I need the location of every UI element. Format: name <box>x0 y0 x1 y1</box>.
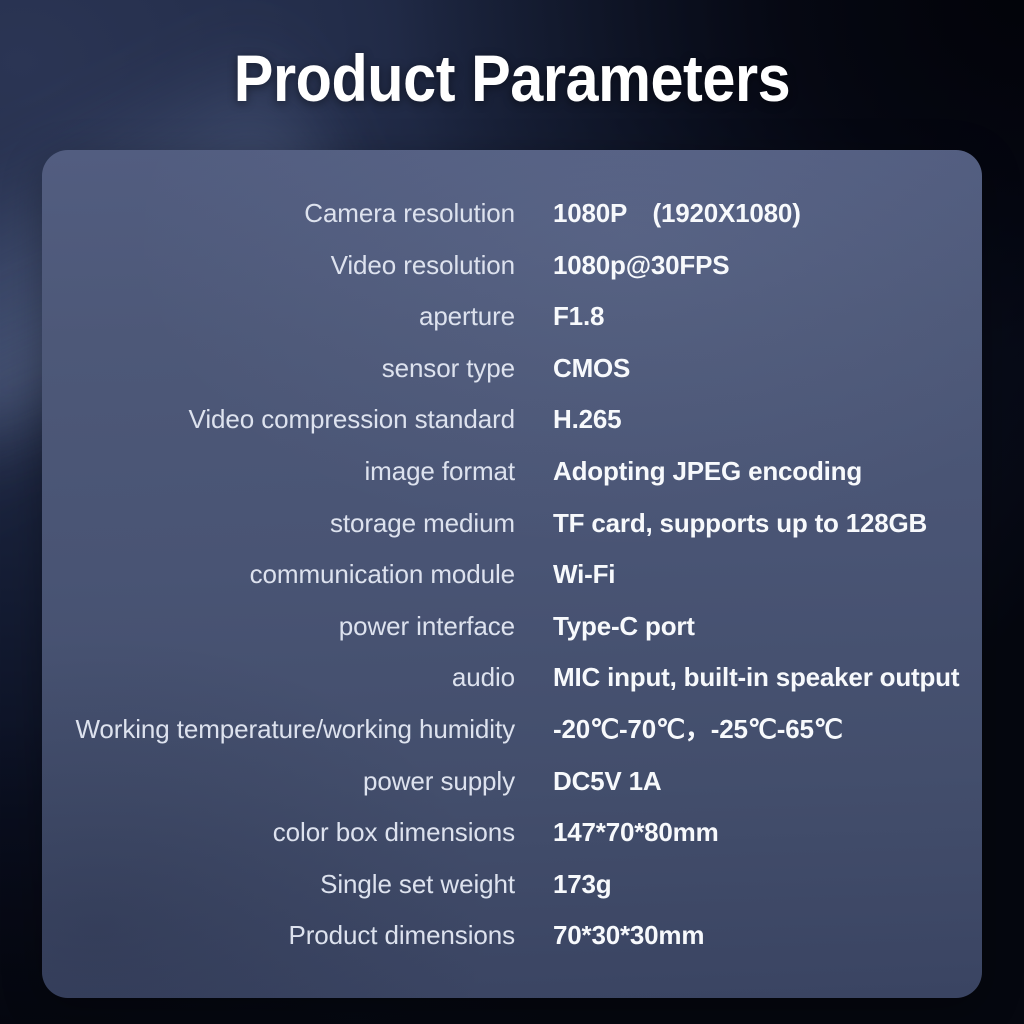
spec-row-value: -20℃-70℃，-25℃-65℃ <box>515 714 843 744</box>
spec-row-label: Video resolution <box>42 250 515 280</box>
spec-row: Product dimensions70*30*30mm <box>42 920 982 972</box>
spec-row: communication moduleWi-Fi <box>42 559 982 611</box>
spec-row-value: Adopting JPEG encoding <box>515 456 862 486</box>
spec-row-label: power interface <box>42 611 515 641</box>
spec-row: color box dimensions147*70*80mm <box>42 817 982 869</box>
spec-row: Single set weight173g <box>42 869 982 921</box>
spec-row: apertureF1.8 <box>42 301 982 353</box>
spec-row: audioMIC input, built-in speaker output <box>42 662 982 714</box>
spec-row-value: DC5V 1A <box>515 766 661 796</box>
spec-row-label: Camera resolution <box>42 198 515 228</box>
spec-row-value: MIC input, built-in speaker output <box>515 662 959 692</box>
spec-row-value: CMOS <box>515 353 630 383</box>
spec-row: Video resolution1080p@30FPS <box>42 250 982 302</box>
spec-row-value: 173g <box>515 869 611 899</box>
spec-row-value: Wi-Fi <box>515 559 615 589</box>
spec-row-value: 1080p@30FPS <box>515 250 729 280</box>
spec-row: storage mediumTF card, supports up to 12… <box>42 508 982 560</box>
spec-row: Video compression standardH.265 <box>42 404 982 456</box>
spec-row-label: sensor type <box>42 353 515 383</box>
spec-row-label: Product dimensions <box>42 920 515 950</box>
spec-row: image formatAdopting JPEG encoding <box>42 456 982 508</box>
product-parameters-page: Product Parameters Camera resolution1080… <box>0 0 1024 1024</box>
spec-row-label: communication module <box>42 559 515 589</box>
spec-row-label: power supply <box>42 766 515 796</box>
spec-row-value: F1.8 <box>515 301 604 331</box>
spec-row-label: Video compression standard <box>42 404 515 434</box>
spec-row: power supplyDC5V 1A <box>42 766 982 818</box>
specification-card: Camera resolution1080P (1920X1080)Video … <box>42 150 982 998</box>
spec-row-label: storage medium <box>42 508 515 538</box>
specification-table: Camera resolution1080P (1920X1080)Video … <box>42 198 982 972</box>
spec-row: sensor typeCMOS <box>42 353 982 405</box>
spec-row: Camera resolution1080P (1920X1080) <box>42 198 982 250</box>
spec-row-label: image format <box>42 456 515 486</box>
spec-row-value: H.265 <box>515 404 621 434</box>
spec-row-label: color box dimensions <box>42 817 515 847</box>
page-title: Product Parameters <box>51 36 973 120</box>
spec-row-label: aperture <box>42 301 515 331</box>
spec-row-value: TF card, supports up to 128GB <box>515 508 927 538</box>
spec-row: power interfaceType-C port <box>42 611 982 663</box>
spec-row-value: Type-C port <box>515 611 695 641</box>
spec-row-value: 147*70*80mm <box>515 817 719 847</box>
spec-row-value: 70*30*30mm <box>515 920 704 950</box>
spec-row: Working temperature/working humidity-20℃… <box>42 714 982 766</box>
spec-row-label: audio <box>42 662 515 692</box>
spec-row-label: Working temperature/working humidity <box>42 714 515 744</box>
spec-row-value: 1080P (1920X1080) <box>515 198 801 228</box>
spec-row-label: Single set weight <box>42 869 515 899</box>
